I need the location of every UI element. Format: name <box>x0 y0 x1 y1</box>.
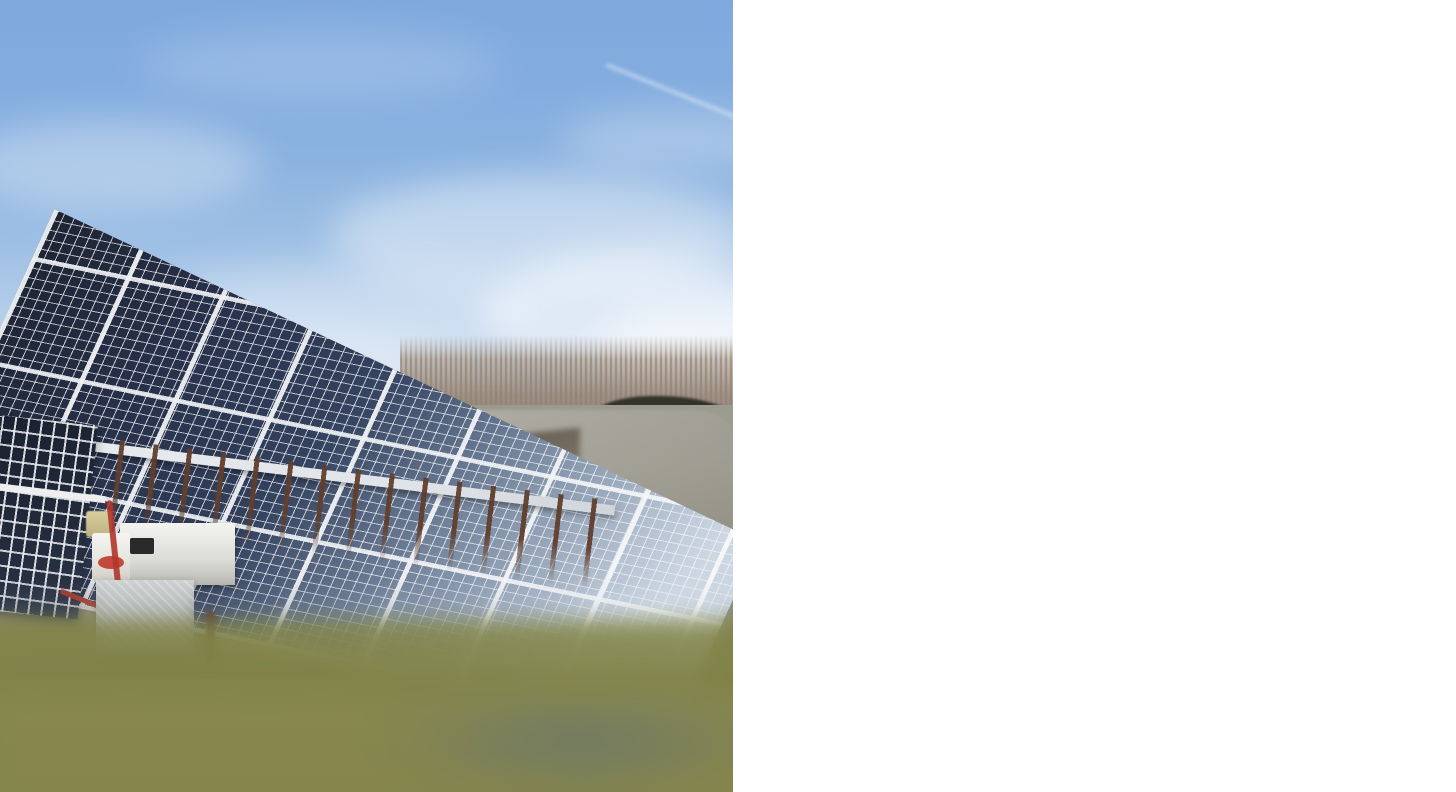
bucket-label <box>98 556 124 569</box>
solar-farm-photo <box>0 0 733 792</box>
content-pane: RENEWABLE ENGERGY Reducing costs and pro… <box>733 0 1456 792</box>
grass-foreground <box>380 700 733 792</box>
inverter-box <box>120 523 235 585</box>
hero-section: RENEWABLE ENGERGY Reducing costs and pro… <box>0 0 1456 792</box>
inverter-panel <box>130 538 154 554</box>
